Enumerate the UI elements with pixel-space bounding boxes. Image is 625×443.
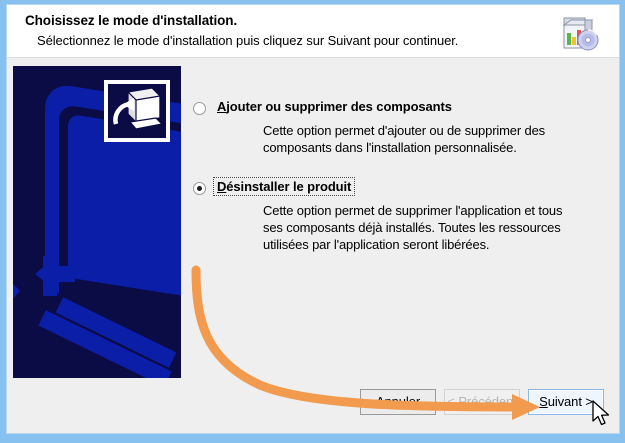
accel-key: D [217, 179, 226, 194]
back-button-label: récédent [467, 394, 517, 409]
computer-monitor-arrow-icon [108, 84, 166, 138]
radio-add-remove-components[interactable] [193, 102, 206, 115]
banner-badge-inner [108, 84, 166, 138]
back-button-prefix: < [447, 394, 458, 409]
back-button[interactable]: < Précédent [444, 389, 520, 415]
next-button-label: uivant > [548, 394, 593, 409]
install-mode-options: Ajouter ou supprimer des composants Cett… [193, 100, 583, 277]
page-subtitle: Sélectionnez le mode d'installation puis… [37, 33, 458, 48]
installer-wizard-window: Choisissez le mode d'installation. Sélec… [0, 0, 625, 443]
page-title: Choisissez le mode d'installation. [25, 13, 237, 28]
option-label-uninstall-product[interactable]: Désinstaller le produit [215, 179, 353, 194]
wizard-banner-image [13, 66, 181, 378]
installer-package-cd-icon [561, 13, 601, 53]
cancel-button[interactable]: Annuler [360, 389, 436, 415]
wizard-header: Choisissez le mode d'installation. Sélec… [7, 5, 619, 58]
option-add-remove-components[interactable]: Ajouter ou supprimer des composants Cett… [193, 100, 583, 156]
accel-key: P [458, 394, 467, 409]
wizard-button-bar: Annuler < Précédent Suivant > [7, 389, 619, 419]
option-label-add-remove-components[interactable]: Ajouter ou supprimer des composants [217, 99, 452, 114]
window-client-area: Choisissez le mode d'installation. Sélec… [6, 4, 620, 434]
option-label-text: jouter ou supprimer des composants [226, 99, 452, 114]
banner-badge [104, 80, 170, 142]
mouse-cursor [592, 400, 612, 428]
accel-key: A [217, 99, 226, 114]
accel-key: S [539, 394, 548, 409]
option-label-text: ésinstaller le produit [226, 179, 351, 194]
radio-uninstall-product[interactable] [193, 182, 206, 195]
option-uninstall-product[interactable]: Désinstaller le produit Cette option per… [193, 180, 583, 253]
